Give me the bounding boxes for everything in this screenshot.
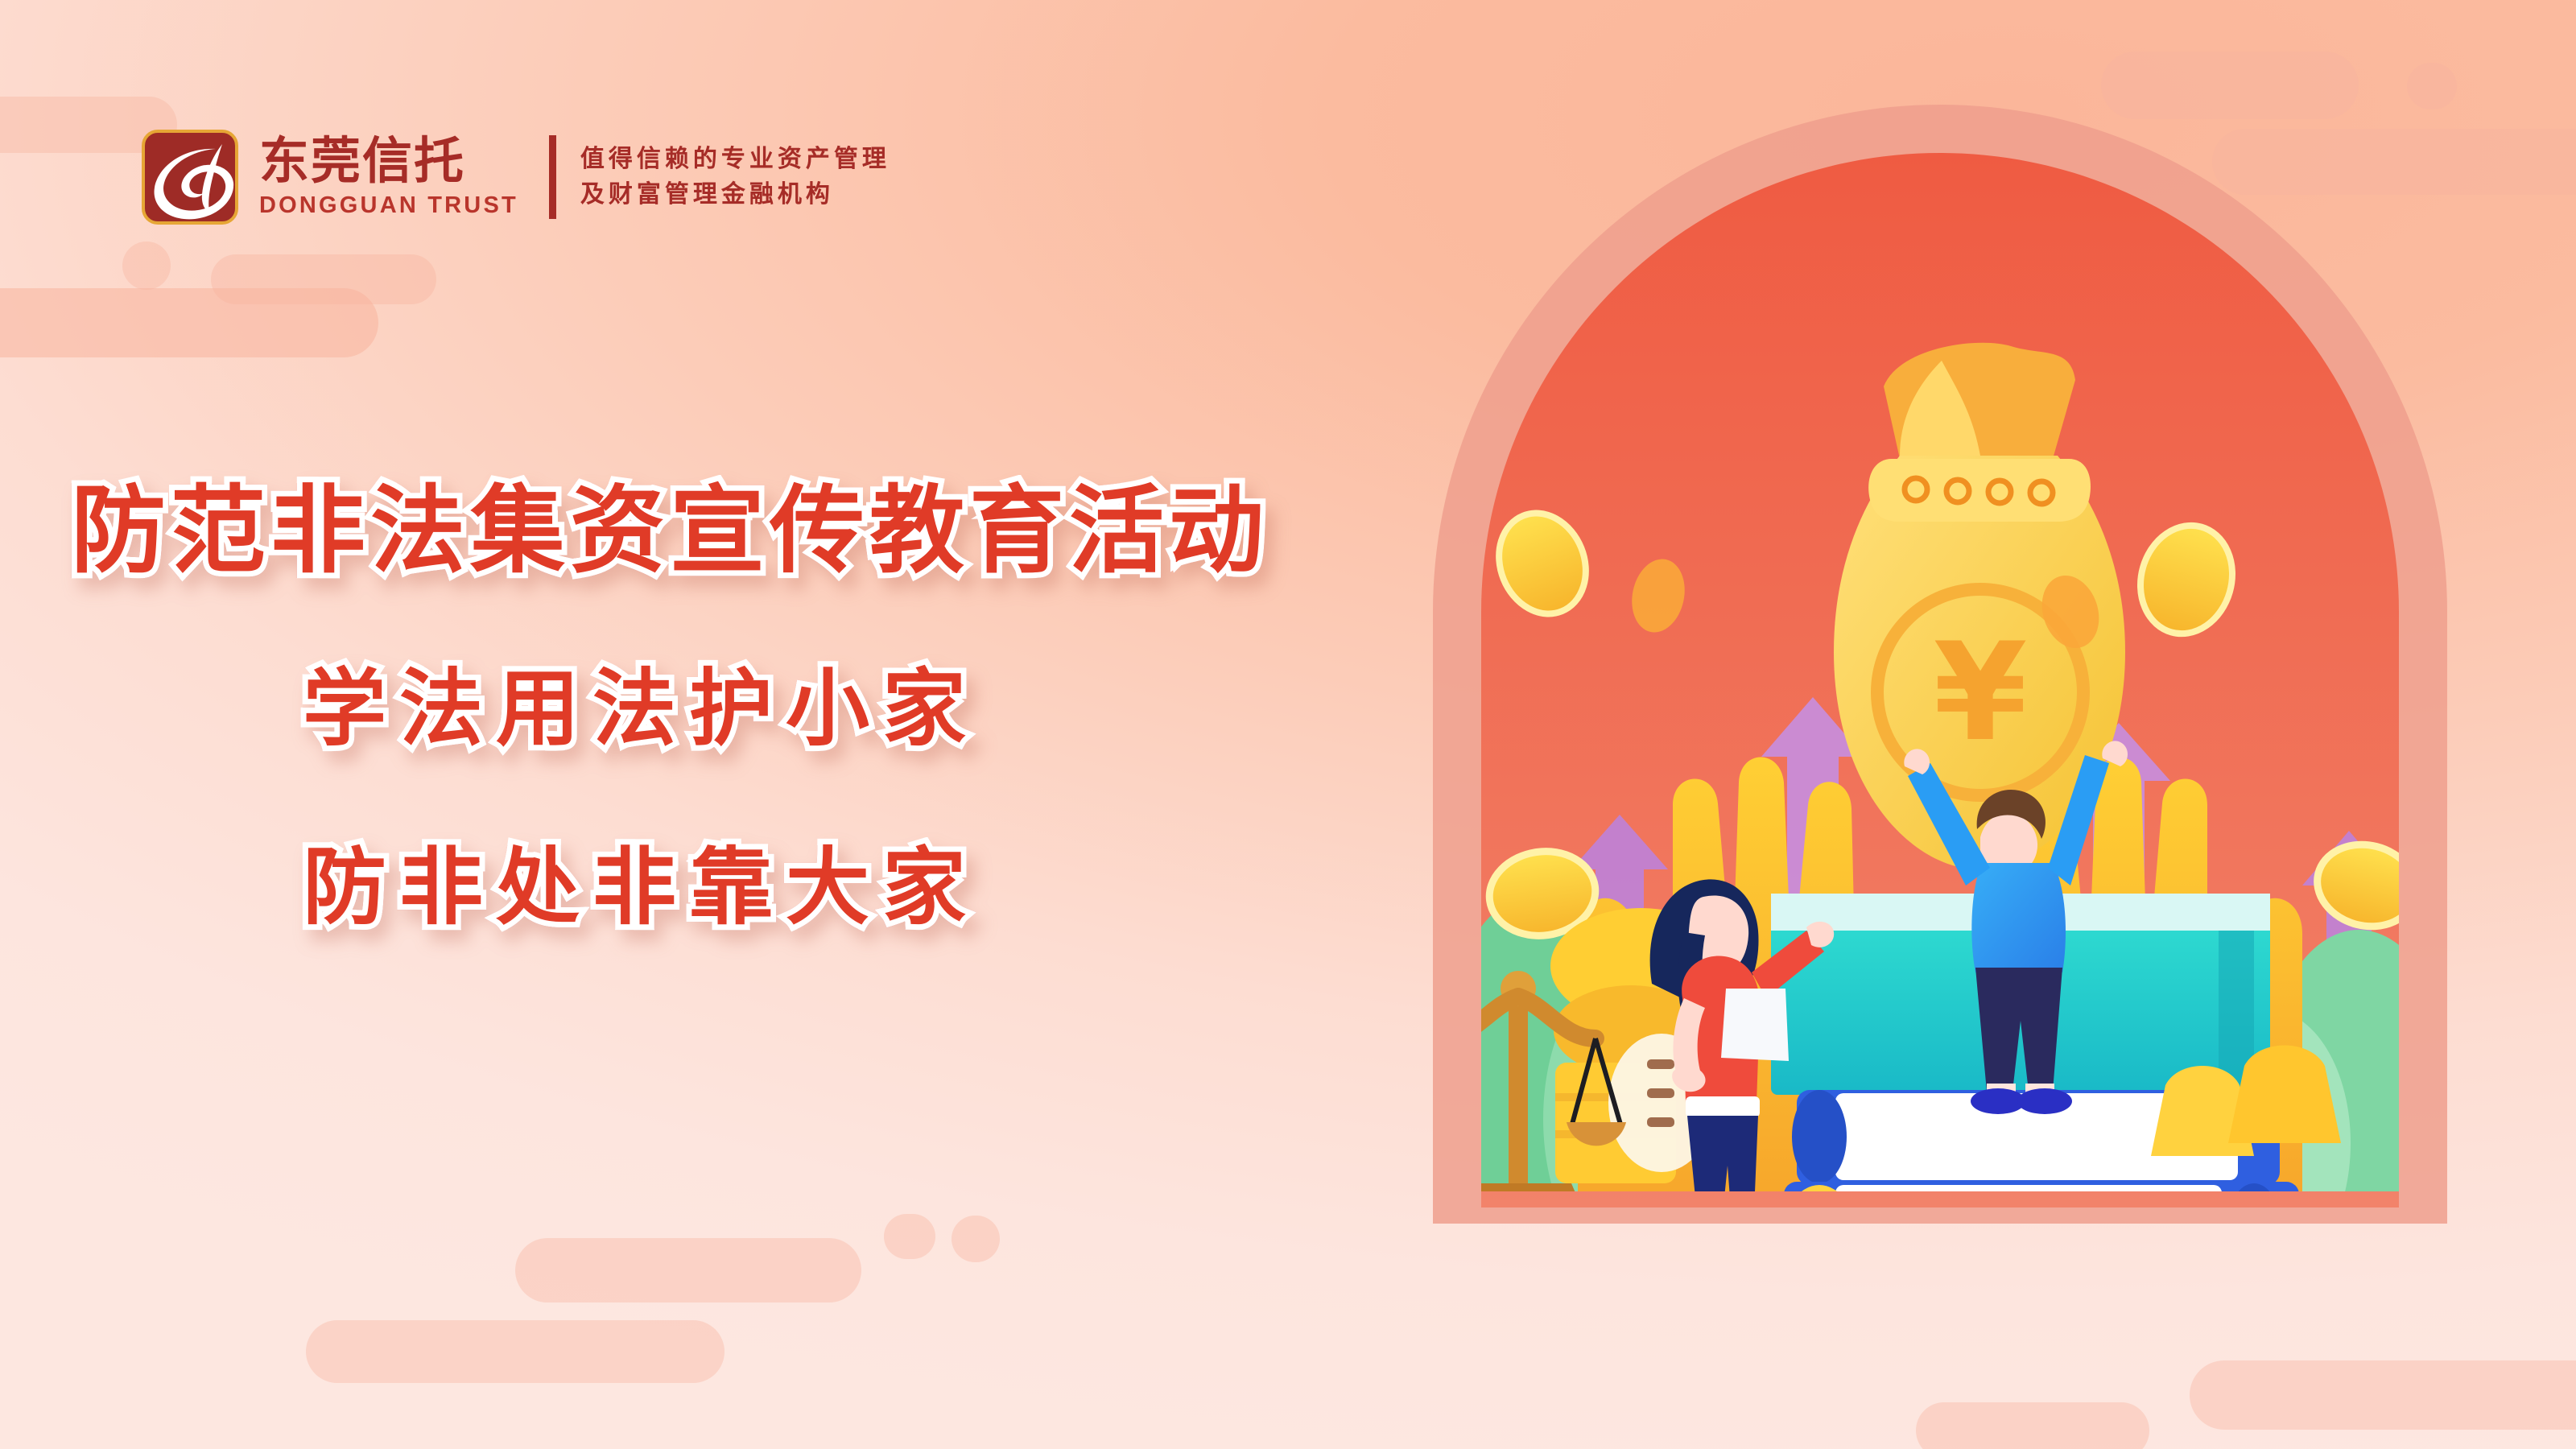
poster-canvas: 东莞信托 DONGGUAN TRUST 值得信赖的专业资产管理 及财富管理金融机… <box>0 0 2576 1449</box>
deco-pill <box>952 1216 1000 1262</box>
deco-pill <box>515 1238 861 1302</box>
headline-line-2: 学法用法护小家 <box>303 667 1368 750</box>
yuan-symbol: ¥ <box>1934 613 2028 771</box>
brand-name-block: 东莞信托 DONGGUAN TRUST <box>259 135 518 218</box>
dongguan-trust-logo-icon <box>142 130 238 225</box>
brand-lockup: 东莞信托 DONGGUAN TRUST 值得信赖的专业资产管理 及财富管理金融机… <box>142 121 890 233</box>
deco-pill <box>122 242 171 290</box>
deco-pill <box>211 254 436 304</box>
headline-line-3: 防非处非靠大家 <box>303 845 1368 929</box>
brand-tagline: 值得信赖的专业资产管理 及财富管理金融机构 <box>580 147 890 207</box>
brand-name-cn: 东莞信托 <box>259 135 518 186</box>
brand-tagline-line1: 值得信赖的专业资产管理 <box>580 147 890 171</box>
deco-pill <box>0 288 378 357</box>
headline-block: 防范非法集资宣传教育活动 学法用法护小家 防非处非靠大家 <box>0 483 1368 929</box>
illustration-anti-illegal-fundraising: ¥ <box>1336 80 2544 1336</box>
brand-name-en: DONGGUAN TRUST <box>259 192 518 219</box>
brand-tagline-line2: 及财富管理金融机构 <box>580 183 890 207</box>
headline-line-1: 防范非法集资宣传教育活动 <box>71 483 1368 578</box>
deco-pill <box>1916 1402 2149 1449</box>
deco-pill <box>2190 1360 2576 1430</box>
deco-pill <box>884 1214 935 1259</box>
deco-pill <box>306 1320 724 1383</box>
brand-divider <box>549 135 556 219</box>
